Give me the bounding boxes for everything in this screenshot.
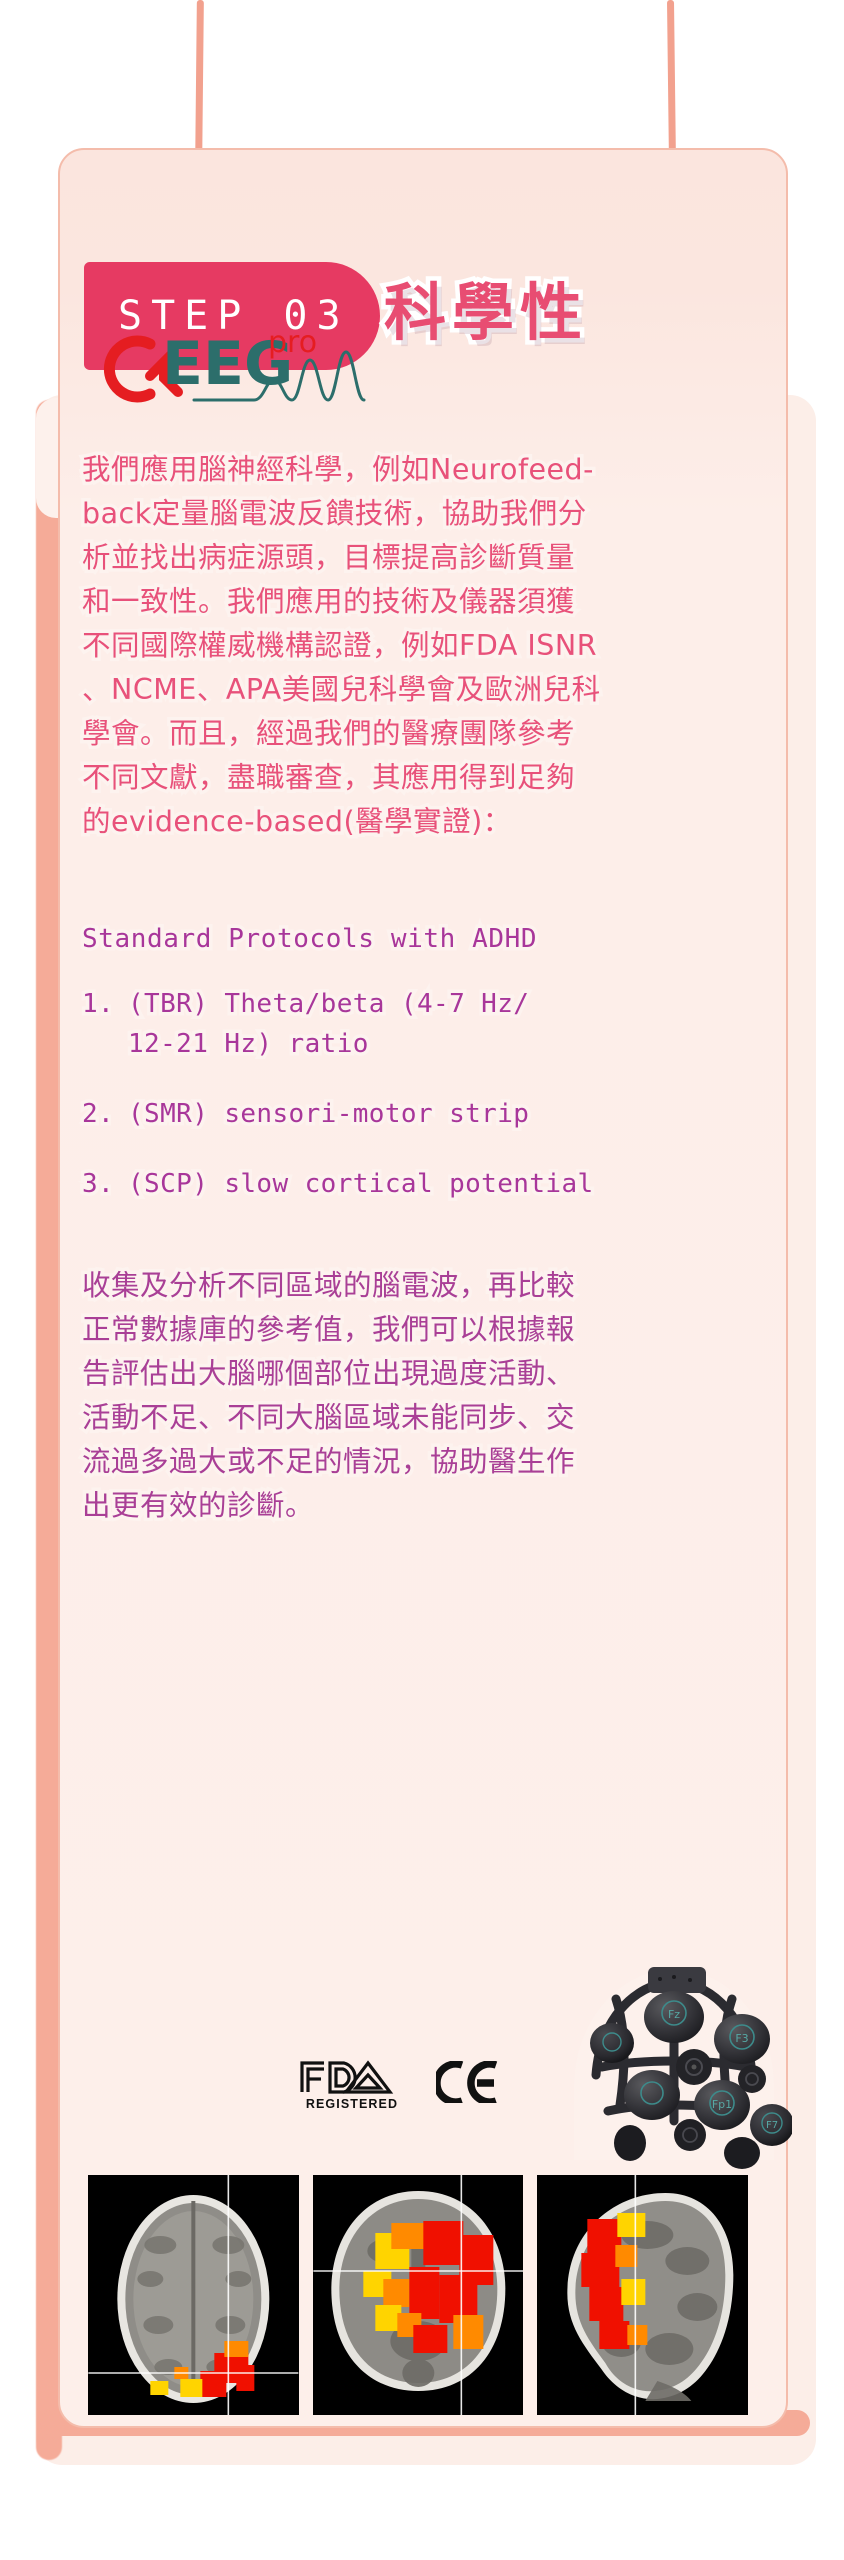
paragraph-two: 收集及分析不同區域的腦電波，再比較正常數據庫的參考值，我們可以根據報告評估出大腦…: [82, 1264, 750, 1528]
paragraph-two-line: 出更有效的診斷。: [82, 1484, 750, 1528]
svg-text:F7: F7: [766, 2120, 778, 2131]
paragraph-two-line: 告評估出大腦哪個部位出現過度活動、: [82, 1352, 750, 1396]
paragraph-one-line: 不同國際權威機構認證，例如FDA ISNR: [82, 624, 750, 668]
axial-brain-scan: [88, 2175, 299, 2415]
paragraph-one-line: 、NCME、APA美國兒科學會及歐洲兒科: [82, 668, 750, 712]
sagittal-brain-scan: [537, 2175, 748, 2415]
paragraph-one-line: 學會。而且，經過我們的醫療團隊參考: [82, 712, 750, 756]
paragraph-one: 我們應用腦神經科學，例如Neurofeed-back定量腦電波反饋技術，協助我們…: [82, 448, 750, 844]
paragraph-one-line: 我們應用腦神經科學，例如Neurofeed-: [82, 448, 750, 492]
protocols-list: 1.(TBR) Theta/beta (4-7 Hz/ 12-21 Hz) ra…: [82, 984, 750, 1204]
paragraph-two-line: 流過多過大或不足的情況，協助醫生作: [82, 1440, 750, 1484]
protocol-number: 3.: [82, 1164, 128, 1204]
paragraph-one-line: 的evidence-based(醫學實證)：: [82, 800, 750, 844]
svg-text:Fz: Fz: [668, 2008, 680, 2021]
svg-text:Fp1: Fp1: [712, 2098, 732, 2111]
paragraph-one-line: 析並找出病症源頭，目標提高診斷質量: [82, 536, 750, 580]
protocol-item: 1.(TBR) Theta/beta (4-7 Hz/ 12-21 Hz) ra…: [82, 984, 750, 1064]
paragraph-one-line: back定量腦電波反饋技術，協助我們分: [82, 492, 750, 536]
logo-c-arc: [109, 341, 150, 397]
page-title: 科學性: [384, 262, 588, 352]
coronal-brain-scan: [313, 2175, 524, 2415]
protocol-item: 3.(SCP) slow cortical potential: [82, 1164, 750, 1204]
paragraph-two-line: 正常數據庫的參考值，我們可以根據報: [82, 1308, 750, 1352]
hanging-string-left: [195, 0, 204, 165]
logo-superscript: pro: [268, 325, 317, 360]
protocol-text: (SMR) sensori-motor strip: [128, 1094, 750, 1134]
cap-top-housing: [648, 1967, 706, 1993]
fda-registered-mark: REGISTERED: [296, 2055, 408, 2111]
hanging-string-right: [667, 0, 676, 165]
paragraph-two-line: 收集及分析不同區域的腦電波，再比較: [82, 1264, 750, 1308]
protocol-item: 2.(SMR) sensori-motor strip: [82, 1094, 750, 1134]
eeg-electrode-cap-icon: Fz F3 Fp1 F7: [556, 1955, 792, 2170]
protocol-number: 1.: [82, 984, 128, 1064]
content-body: 我們應用腦神經科學，例如Neurofeed-back定量腦電波反饋技術，協助我們…: [82, 448, 750, 1528]
brain-scan-strip: [88, 2175, 748, 2415]
paragraph-two-line: 活動不足、不同大腦區域未能同步、交: [82, 1396, 750, 1440]
protocols-heading: Standard Protocols with ADHD: [82, 924, 750, 954]
fda-registered-label: REGISTERED: [296, 2097, 408, 2111]
protocol-number: 2.: [82, 1094, 128, 1134]
svg-text:F3: F3: [735, 2032, 748, 2045]
ce-mark-icon: [436, 2061, 500, 2103]
paragraph-one-line: 和一致性。我們應用的技術及儀器須獲: [82, 580, 750, 624]
fda-logo-icon: [296, 2055, 408, 2095]
protocol-text: (SCP) slow cortical potential: [128, 1164, 750, 1204]
eegpro-logo: EEG pro: [98, 318, 378, 414]
paragraph-one-line: 不同文獻，盡職審查，其應用得到足夠: [82, 756, 750, 800]
protocol-text: (TBR) Theta/beta (4-7 Hz/ 12-21 Hz) rati…: [128, 984, 750, 1064]
poster-root: STEP 03 科學性 EEG pro 我們應用腦神經科學，例如Neurofee…: [0, 0, 844, 2560]
certification-marks: REGISTERED: [296, 2055, 500, 2111]
